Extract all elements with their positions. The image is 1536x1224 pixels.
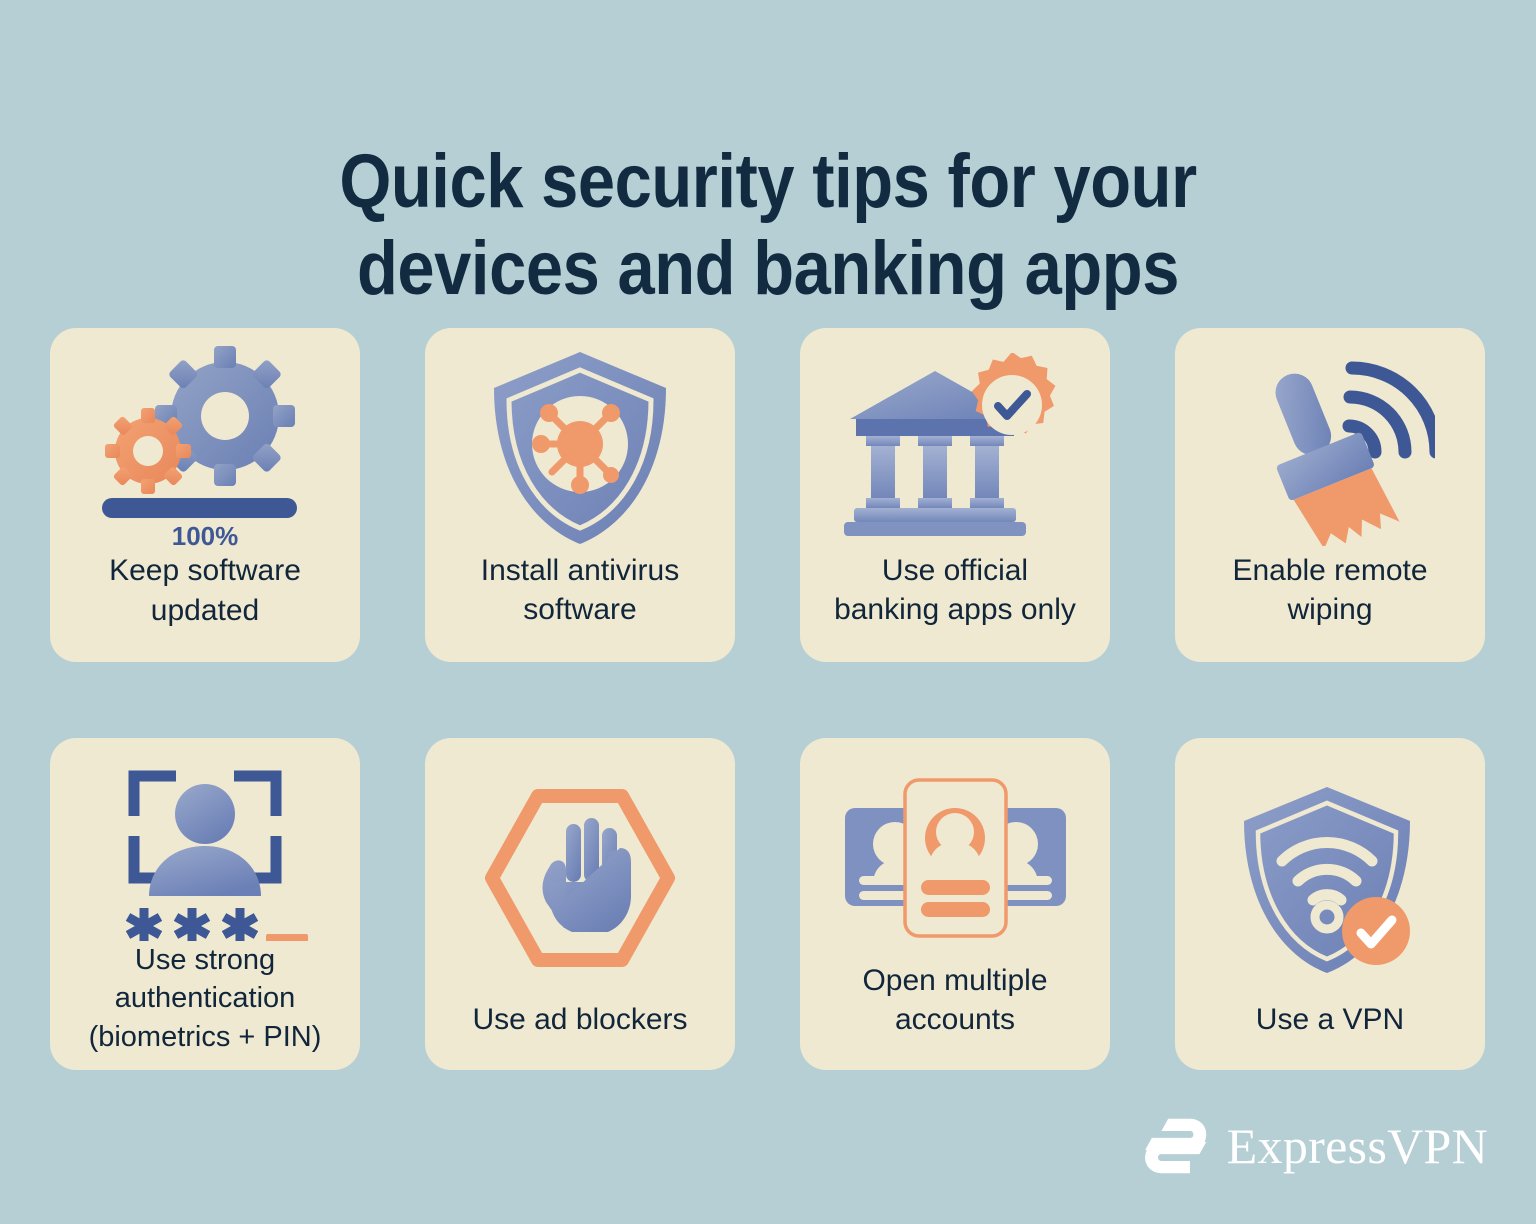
- person-silhouette: [149, 784, 261, 896]
- tip-card-label: Use strong authentication (biometrics + …: [60, 941, 350, 1056]
- multiple-id-cards-icon: [810, 756, 1100, 961]
- tip-card-install-antivirus-software[interactable]: Install antivirus software: [425, 328, 735, 662]
- tip-card-use-official-banking-apps-only[interactable]: Use official banking apps only: [800, 328, 1110, 662]
- shield-virus-icon: [435, 346, 725, 551]
- tip-card-label: Keep software updated: [60, 551, 350, 630]
- bank-verified-badge-icon: [810, 346, 1100, 551]
- hand-silhouette: [543, 818, 631, 932]
- page-title: Quick security tips for your devices and…: [92, 139, 1444, 312]
- tip-card-use-ad-blockers[interactable]: Use ad blockers: [425, 738, 735, 1070]
- tip-card-keep-software-updated[interactable]: 100% Keep software updated: [50, 328, 360, 662]
- expressvpn-wordmark: ExpressVPN: [1227, 1121, 1488, 1171]
- progress-bar: [102, 498, 297, 518]
- tip-card-label: Use official banking apps only: [810, 551, 1100, 630]
- id-card-center: [905, 780, 1006, 936]
- brush-wireless-icon: [1185, 346, 1475, 551]
- tip-card-label: Open multiple accounts: [810, 961, 1100, 1040]
- expressvpn-logo: ExpressVPN: [1141, 1112, 1488, 1180]
- shield-wifi-check-icon: [1185, 756, 1475, 1000]
- tip-card-use-strong-authentication[interactable]: Use strong authentication (biometrics + …: [50, 738, 360, 1070]
- tip-card-label: Use a VPN: [1185, 1000, 1475, 1040]
- face-scan-pin-icon: [60, 756, 350, 941]
- pin-asterisks: [128, 908, 256, 941]
- expressvpn-e-mark-icon: [1141, 1112, 1209, 1180]
- tip-card-label: Use ad blockers: [435, 1000, 725, 1040]
- tip-card-label: Enable remote wiping: [1185, 551, 1475, 630]
- tip-card-label: Install antivirus software: [435, 551, 725, 630]
- check-badge: [1342, 897, 1410, 965]
- tips-grid: 100% Keep software updated: [50, 328, 1486, 1070]
- tip-card-use-a-vpn[interactable]: Use a VPN: [1175, 738, 1485, 1070]
- progress-value: 100%: [172, 521, 239, 551]
- tip-card-open-multiple-accounts[interactable]: Open multiple accounts: [800, 738, 1110, 1070]
- tip-card-enable-remote-wiping[interactable]: Enable remote wiping: [1175, 328, 1485, 662]
- hexagon-stop-hand-icon: [435, 756, 725, 1000]
- infographic-page: Quick security tips for your devices and…: [0, 0, 1536, 1224]
- cursor-underscore: [266, 934, 308, 941]
- gears-progress-icon: 100%: [60, 346, 350, 551]
